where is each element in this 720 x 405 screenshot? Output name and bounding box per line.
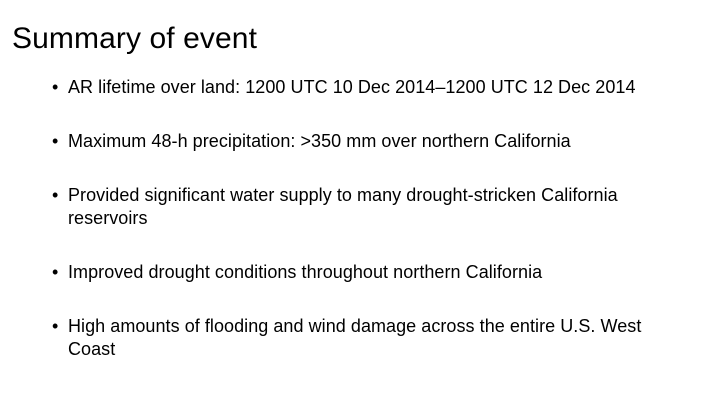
list-item: • Provided significant water supply to m… bbox=[50, 184, 660, 230]
list-item: • AR lifetime over land: 1200 UTC 10 Dec… bbox=[50, 76, 660, 99]
page-title: Summary of event bbox=[12, 20, 702, 58]
list-item: • Improved drought conditions throughout… bbox=[50, 261, 660, 284]
bullet-list: • AR lifetime over land: 1200 UTC 10 Dec… bbox=[50, 76, 660, 361]
bullet-text: Provided significant water supply to man… bbox=[68, 184, 660, 230]
bullet-text: High amounts of flooding and wind damage… bbox=[68, 315, 660, 361]
slide-body-placeholder: • AR lifetime over land: 1200 UTC 10 Dec… bbox=[50, 76, 660, 361]
list-item: • Maximum 48-h precipitation: >350 mm ov… bbox=[50, 130, 660, 153]
bullet-point-icon: • bbox=[52, 130, 58, 153]
bullet-point-icon: • bbox=[52, 76, 58, 99]
bullet-point-icon: • bbox=[52, 184, 58, 207]
bullet-text: Maximum 48-h precipitation: >350 mm over… bbox=[68, 130, 660, 153]
list-item: • High amounts of flooding and wind dama… bbox=[50, 315, 660, 361]
bullet-text: Improved drought conditions throughout n… bbox=[68, 261, 660, 284]
presentation-slide: Summary of event • AR lifetime over land… bbox=[0, 0, 720, 405]
bullet-point-icon: • bbox=[52, 261, 58, 284]
bullet-text: AR lifetime over land: 1200 UTC 10 Dec 2… bbox=[68, 76, 660, 99]
bullet-point-icon: • bbox=[52, 315, 58, 338]
